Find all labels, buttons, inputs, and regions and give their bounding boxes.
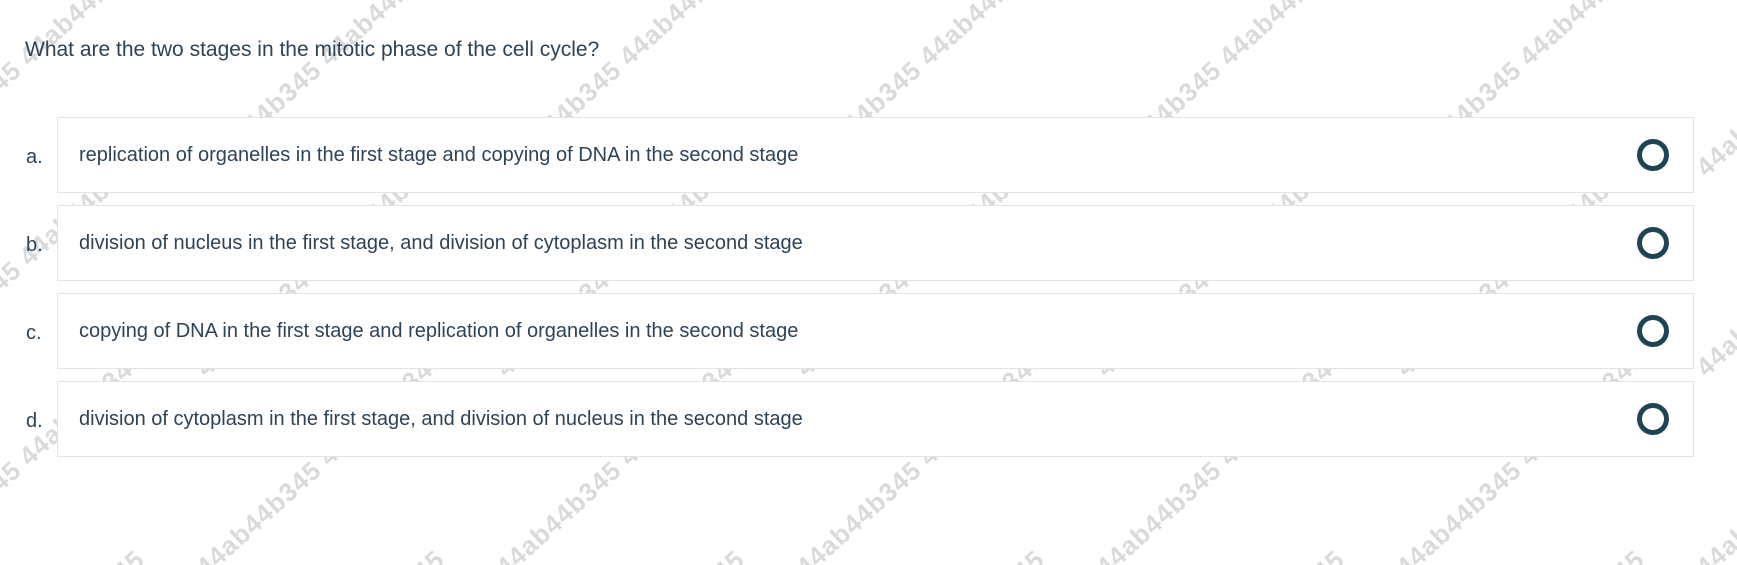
- option-letter-label: d.: [26, 410, 52, 433]
- quiz-question-page: What are the two stages in the mitotic p…: [0, 0, 1737, 565]
- radio-option-d[interactable]: [1637, 403, 1671, 437]
- option-text: division of nucleus in the first stage, …: [79, 232, 803, 255]
- radio-option-b[interactable]: [1637, 227, 1671, 261]
- answer-options-list: a.replication of organelles in the first…: [0, 113, 1737, 465]
- option-letter-label: b.: [26, 234, 52, 257]
- option-text: division of cytoplasm in the first stage…: [79, 408, 803, 431]
- answer-option-row[interactable]: b.division of nucleus in the first stage…: [0, 201, 1737, 289]
- radio-button-icon: [1637, 403, 1669, 435]
- radio-button-icon: [1637, 139, 1669, 171]
- option-box[interactable]: copying of DNA in the first stage and re…: [57, 293, 1694, 369]
- answer-option-row[interactable]: d.division of cytoplasm in the first sta…: [0, 377, 1737, 465]
- option-letter-label: a.: [26, 146, 52, 169]
- option-letter-label: c.: [26, 322, 52, 345]
- option-text: replication of organelles in the first s…: [79, 144, 798, 167]
- radio-option-c[interactable]: [1637, 315, 1671, 349]
- option-box[interactable]: division of nucleus in the first stage, …: [57, 205, 1694, 281]
- option-box[interactable]: division of cytoplasm in the first stage…: [57, 381, 1694, 457]
- page-title: What are the two stages in the mitotic p…: [25, 36, 599, 63]
- answer-option-row[interactable]: c.copying of DNA in the first stage and …: [0, 289, 1737, 377]
- radio-button-icon: [1637, 315, 1669, 347]
- radio-option-a[interactable]: [1637, 139, 1671, 173]
- answer-option-row[interactable]: a.replication of organelles in the first…: [0, 113, 1737, 201]
- option-text: copying of DNA in the first stage and re…: [79, 320, 798, 343]
- radio-button-icon: [1637, 227, 1669, 259]
- option-box[interactable]: replication of organelles in the first s…: [57, 117, 1694, 193]
